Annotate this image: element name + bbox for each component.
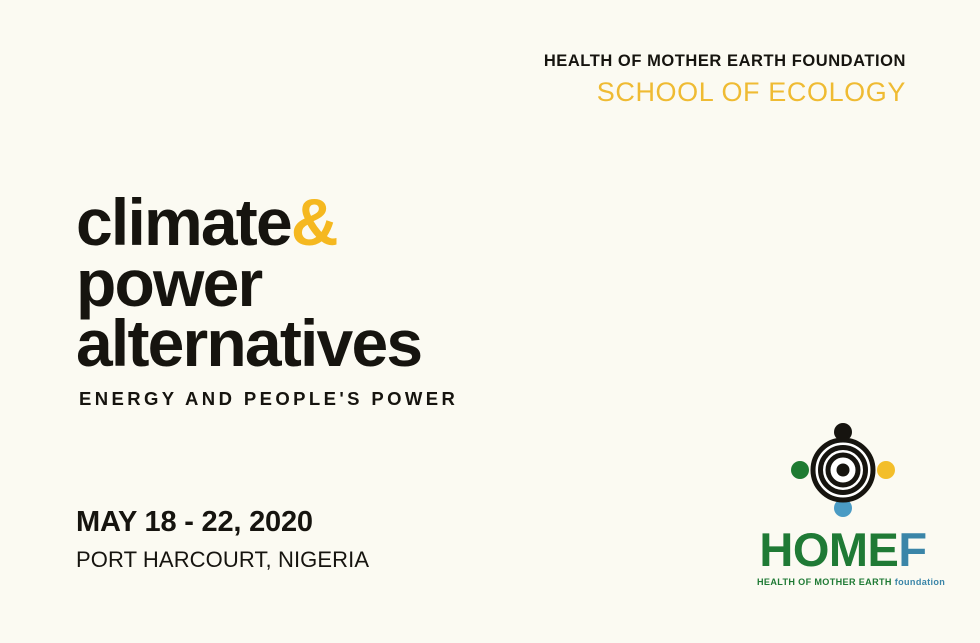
homef-wordmark: HOMEF bbox=[757, 526, 929, 573]
homef-circle-of-people-emblem-icon bbox=[787, 418, 899, 522]
school-name: SCHOOL OF ECOLOGY bbox=[544, 78, 906, 108]
wordmark-home: HOME bbox=[759, 523, 898, 576]
title-line-3: alternatives bbox=[76, 313, 458, 374]
header-block: HEALTH OF MOTHER EARTH FOUNDATION SCHOOL… bbox=[544, 52, 906, 107]
event-date: MAY 18 - 22, 2020 bbox=[76, 505, 369, 539]
logo-subtitle-primary: HEALTH OF MOTHER EARTH bbox=[757, 577, 892, 587]
title-tagline: ENERGY AND PEOPLE'S POWER bbox=[79, 388, 458, 410]
title-line-2: power bbox=[76, 253, 458, 314]
event-details-block: MAY 18 - 22, 2020 PORT HARCOURT, NIGERIA bbox=[76, 505, 369, 573]
title-line-1: climate& bbox=[76, 192, 458, 253]
title-block: climate& power alternatives ENERGY AND P… bbox=[76, 192, 458, 410]
logo-subtitle-accent: foundation bbox=[895, 577, 945, 587]
wordmark-f: F bbox=[898, 523, 926, 576]
title-ampersand: & bbox=[291, 185, 337, 259]
organization-name: HEALTH OF MOTHER EARTH FOUNDATION bbox=[544, 52, 906, 72]
event-location: PORT HARCOURT, NIGERIA bbox=[76, 547, 369, 572]
homef-logo-subtitle: HEALTH OF MOTHER EARTH foundation bbox=[757, 578, 929, 587]
poster-canvas: HEALTH OF MOTHER EARTH FOUNDATION SCHOOL… bbox=[0, 0, 980, 643]
homef-logo: HOMEF HEALTH OF MOTHER EARTH foundation bbox=[757, 418, 929, 584]
emblem-target-rings bbox=[812, 439, 874, 501]
